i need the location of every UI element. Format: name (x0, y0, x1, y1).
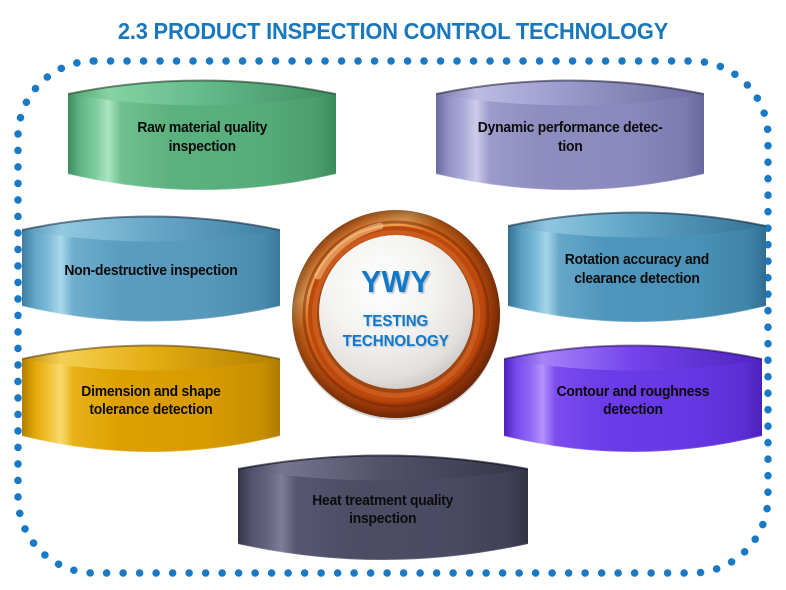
node-raw-material-quality-inspection[interactable]: Raw material quality inspection (68, 80, 336, 195)
node-rotation-accuracy-and-clearance-detection[interactable]: Rotation accuracy and clearance detectio… (508, 212, 766, 327)
node-label: Non-destructive inspection (44, 216, 257, 326)
diagram-canvas: 2.3 PRODUCT INSPECTION CONTROL TECHNOLOG… (0, 0, 786, 590)
node-label: Heat treatment quality inspection (263, 455, 502, 565)
node-label: Contour and roughness detection (526, 345, 739, 457)
node-heat-treatment-quality-inspection[interactable]: Heat treatment quality inspection (238, 455, 528, 565)
node-contour-and-roughness-detection[interactable]: Contour and roughness detection (504, 345, 762, 457)
node-label: Raw material quality inspection (91, 80, 312, 195)
node-dynamic-performance-detection[interactable]: Dynamic performance detec- tion (436, 80, 704, 195)
page-title: 2.3 PRODUCT INSPECTION CONTROL TECHNOLOG… (20, 18, 767, 45)
node-label: Dimension and shape tolerance detection (44, 345, 257, 457)
node-dimension-and-shape-tolerance-detection[interactable]: Dimension and shape tolerance detection (22, 345, 280, 457)
node-label: Dynamic performance detec- tion (459, 80, 680, 195)
node-label: Rotation accuracy and clearance detectio… (530, 212, 743, 327)
node-non-destructive-inspection[interactable]: Non-destructive inspection (22, 216, 280, 326)
center-emblem[interactable]: YWY TESTING TECHNOLOGY (288, 206, 504, 422)
emblem-ring-shape (288, 206, 504, 422)
